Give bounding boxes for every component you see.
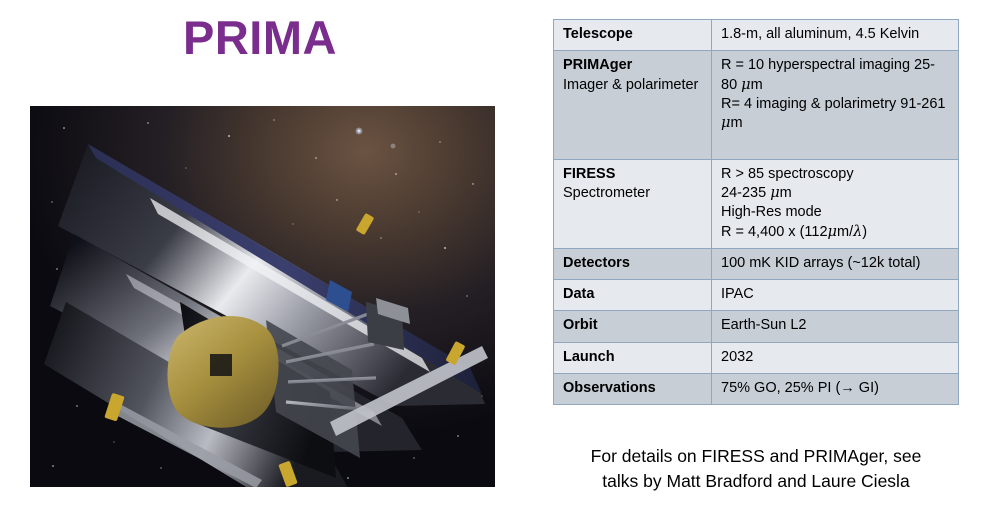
spec-label-telescope: Telescope [554,20,712,51]
footer-note-line2: talks by Matt Bradford and Laure Ciesla [553,469,959,494]
table-row: Launch 2032 [554,342,959,373]
footer-note-line1: For details on FIRESS and PRIMAger, see [553,444,959,469]
spec-label-main: Observations [563,379,702,398]
spec-value-launch: 2032 [712,342,959,373]
spec-value-telescope: 1.8-m, all aluminum, 4.5 Kelvin [712,20,959,51]
math-symbol: μ [828,224,837,240]
table-row: Data IPAC [554,280,959,311]
spec-value-line: 1.8-m, all aluminum, 4.5 Kelvin [721,25,949,44]
spec-label-data: Data [554,280,712,311]
spec-value-firess: R > 85 spectroscopy 24-235 μm High-Res m… [712,159,959,248]
spec-label-main: Data [563,285,702,304]
spec-label-sub: Imager & polarimeter [563,76,702,95]
spec-label-primager: PRIMAger Imager & polarimeter [554,51,712,159]
spacecraft-illustration [30,106,495,487]
footer-note: For details on FIRESS and PRIMAger, see … [553,444,959,494]
spec-value-orbit: Earth-Sun L2 [712,311,959,342]
spec-label-main: Telescope [563,25,702,44]
spec-value-line: 75% GO, 25% PI (→ GI) [721,379,949,398]
math-symbol: μ [721,115,730,131]
table-row: Telescope 1.8-m, all aluminum, 4.5 Kelvi… [554,20,959,51]
table-row: FIRESS Spectrometer R > 85 spectroscopy … [554,159,959,248]
spec-label-main: FIRESS [563,165,702,184]
page-title: PRIMA [0,14,520,61]
spec-value-line: Earth-Sun L2 [721,316,949,335]
spec-label-main: Launch [563,348,702,367]
table-row: PRIMAger Imager & polarimeter R = 10 hyp… [554,51,959,159]
spec-value-primager: R = 10 hyperspectral imaging 25-80 μm R=… [712,51,959,159]
spec-label-main: Detectors [563,254,702,273]
spec-value-line: High-Res mode [721,203,949,222]
spec-label-main: PRIMAger [563,56,702,75]
math-symbol: μ [770,185,779,201]
table-row: Observations 75% GO, 25% PI (→ GI) [554,373,959,404]
table-row: Orbit Earth-Sun L2 [554,311,959,342]
spec-value-data: IPAC [712,280,959,311]
math-symbol: μ [741,77,750,93]
spec-value-spacer [721,133,949,152]
prima-specification-table: Telescope 1.8-m, all aluminum, 4.5 Kelvi… [553,19,959,405]
spec-label-firess: FIRESS Spectrometer [554,159,712,248]
math-symbol: λ [853,224,862,240]
spec-value-observations: 75% GO, 25% PI (→ GI) [712,373,959,404]
spec-label-orbit: Orbit [554,311,712,342]
spec-value-detectors: 100 mK KID arrays (~12k total) [712,248,959,279]
spec-value-line: 24-235 μm [721,184,949,203]
spec-value-line: R = 4,400 x (112μm/λ) [721,223,949,242]
spec-value-line: R= 4 imaging & polarimetry 91-261 μm [721,95,949,134]
spec-label-launch: Launch [554,342,712,373]
prima-spacecraft-image [30,106,495,487]
table-row: Detectors 100 mK KID arrays (~12k total) [554,248,959,279]
spec-value-line: 2032 [721,348,949,367]
spec-value-line: R = 10 hyperspectral imaging 25-80 μm [721,56,949,95]
spec-label-sub: Spectrometer [563,184,702,203]
spec-label-detectors: Detectors [554,248,712,279]
spec-value-line: IPAC [721,285,949,304]
spec-value-line: 100 mK KID arrays (~12k total) [721,254,949,273]
spec-value-line: R > 85 spectroscopy [721,165,949,184]
spec-table-body: Telescope 1.8-m, all aluminum, 4.5 Kelvi… [554,20,959,405]
spec-label-main: Orbit [563,316,702,335]
spec-label-observations: Observations [554,373,712,404]
